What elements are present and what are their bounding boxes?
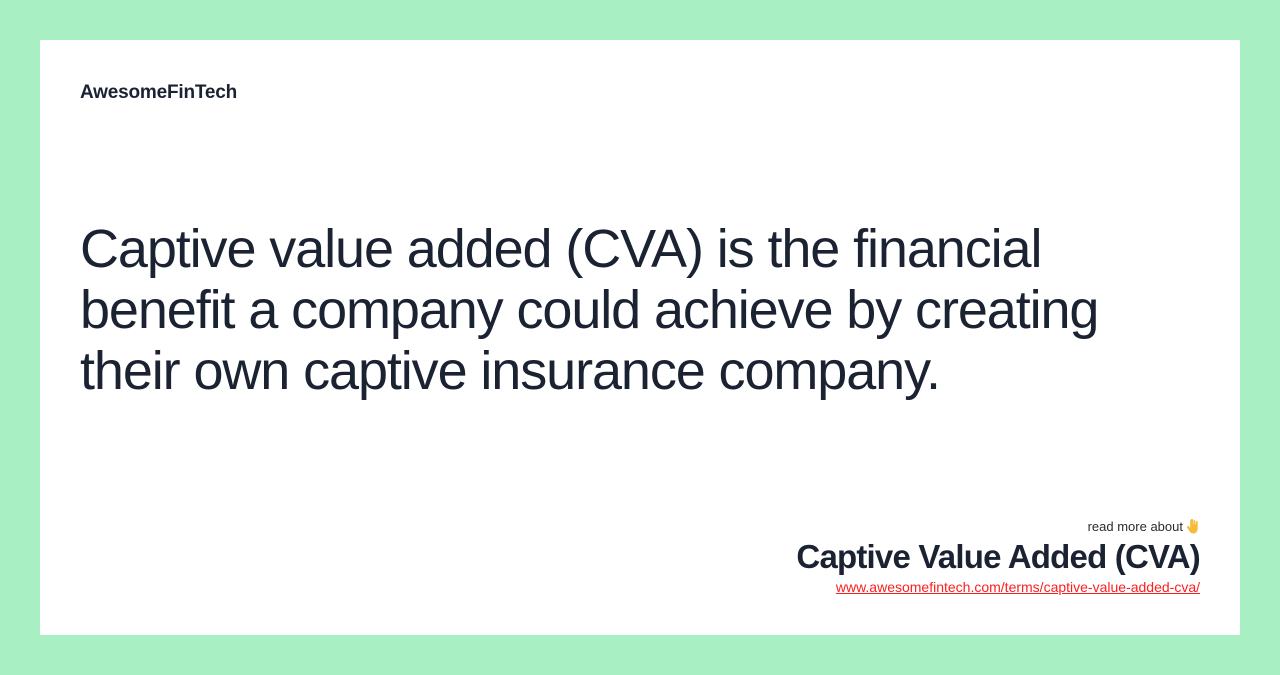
read-more-row: read more about (440, 518, 1200, 535)
definition-text: Captive value added (CVA) is the financi… (80, 219, 1195, 402)
pointing-down-hand-icon (1186, 519, 1200, 534)
brand-logo-text: AwesomeFinTech (80, 82, 237, 105)
term-url-link[interactable]: www.awesomefintech.com/terms/captive-val… (836, 578, 1200, 596)
read-more-label: read more about (1088, 519, 1183, 534)
footer-term-block: read more about Captive Value Added (CVA… (440, 518, 1200, 597)
term-title: Captive Value Added (CVA) (440, 537, 1200, 577)
page-canvas: AwesomeFinTech Captive value added (CVA)… (0, 0, 1280, 675)
